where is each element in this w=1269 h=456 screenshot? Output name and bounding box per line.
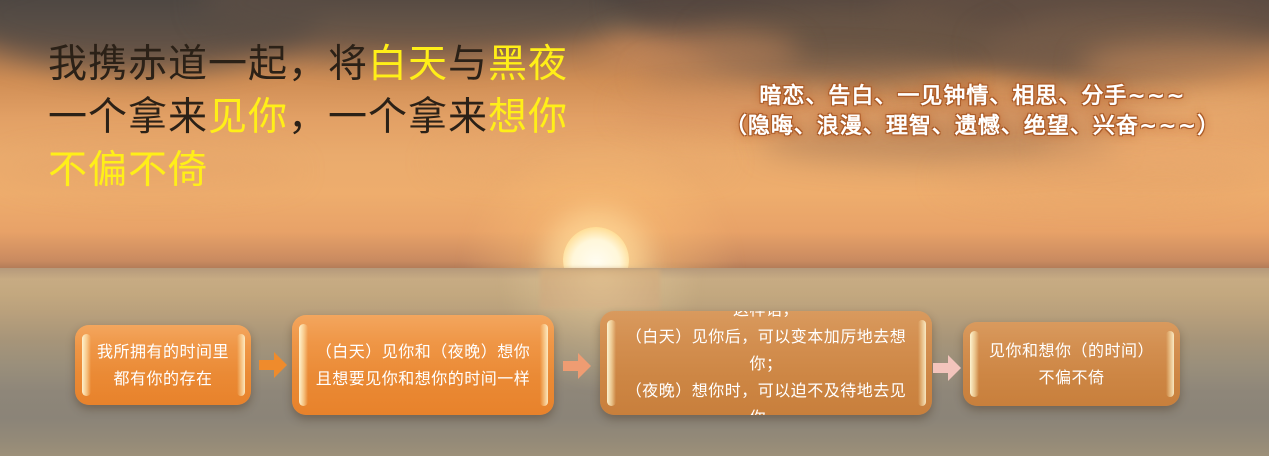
arrow-right-icon-3	[932, 354, 962, 382]
poem-line1-highlight-1: 白天	[368, 42, 448, 87]
caption-line-1: 暗恋、告白、一见钟情、相思、分手~~~	[700, 82, 1245, 112]
flow-box-4-line-1: 见你和想你（的时间）	[989, 337, 1154, 364]
poem-line2-highlight-1: 见你	[208, 95, 288, 140]
poem-text: 我携赤道一起，将白天与黑夜一个拿来见你，一个拿来想你不偏不倚	[48, 38, 668, 197]
caption-block: 暗恋、告白、一见钟情、相思、分手~~~ （隐晦、浪漫、理智、遗憾、绝望、兴奋~~…	[700, 82, 1245, 142]
arrow-right-icon-1	[258, 351, 288, 379]
flow-box-1-line-1: 我所拥有的时间里	[97, 338, 229, 365]
poem-line2-part-a: 一个拿来	[48, 95, 208, 140]
flow-box-3-line-2: （白天）见你后，可以变本加厉地去想你；	[614, 323, 918, 377]
caption-line-2: （隐晦、浪漫、理智、遗憾、绝望、兴奋~~~）	[700, 112, 1245, 142]
flow-box-3[interactable]: 这样话， （白天）见你后，可以变本加厉地去想你； （夜晚）想你时，可以迫不及待地…	[600, 311, 932, 415]
poem-line1-part-b: 与	[448, 42, 488, 87]
flow-box-2[interactable]: （白天）见你和（夜晚）想你 且想要见你和想你的时间一样	[292, 315, 554, 415]
flow-box-4[interactable]: 见你和想你（的时间） 不偏不倚	[963, 322, 1180, 406]
poem-line1-part-a: 我携赤道一起，将	[48, 42, 368, 87]
flow-box-2-line-1: （白天）见你和（夜晚）想你	[316, 338, 531, 365]
cloud-shape	[940, 160, 1260, 200]
sunset-poster: 我携赤道一起，将白天与黑夜一个拿来见你，一个拿来想你不偏不倚 暗恋、告白、一见钟…	[0, 0, 1269, 456]
flow-box-3-line-1: 这样话，	[614, 311, 918, 323]
poem-line2-part-b: ，一个拿来	[288, 95, 488, 140]
poem-line1-highlight-2: 黑夜	[488, 42, 568, 87]
flow-box-3-line-3: （夜晚）想你时，可以迫不及待地去见你。	[614, 377, 918, 416]
poem-line3-highlight: 不偏不倚	[48, 148, 208, 193]
flow-box-1[interactable]: 我所拥有的时间里 都有你的存在	[75, 325, 251, 405]
arrow-right-icon-2	[562, 352, 592, 380]
flow-box-1-line-2: 都有你的存在	[97, 365, 229, 392]
flow-box-4-line-2: 不偏不倚	[989, 364, 1154, 391]
flow-box-2-line-2: 且想要见你和想你的时间一样	[316, 365, 531, 392]
poem-line2-highlight-2: 想你	[488, 95, 568, 140]
